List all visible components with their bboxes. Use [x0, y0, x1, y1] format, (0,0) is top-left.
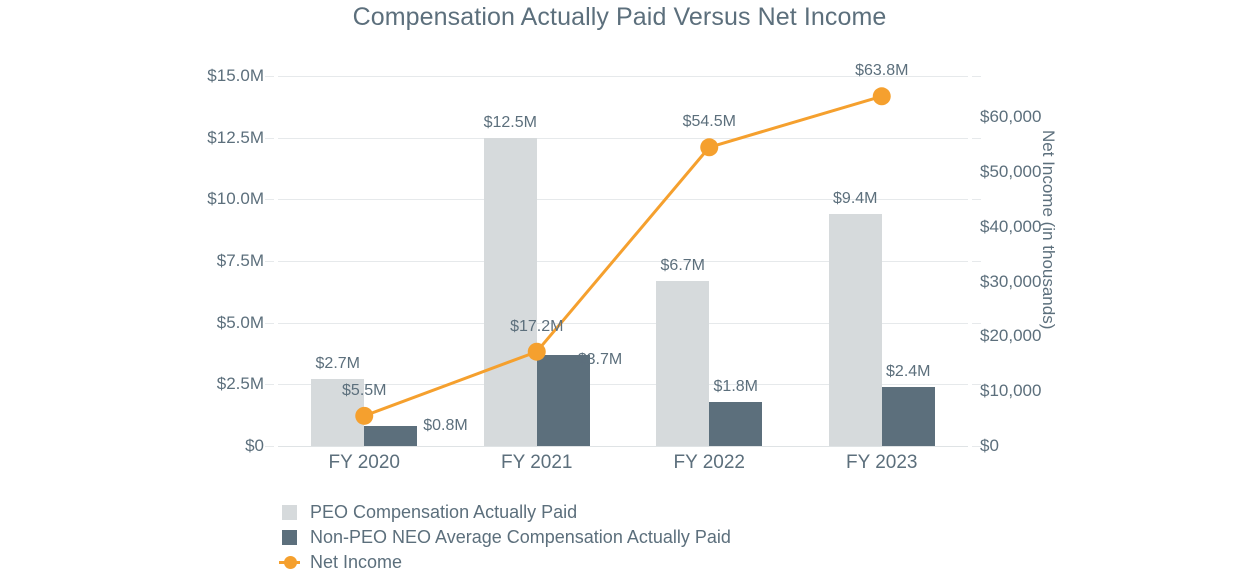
legend-swatch-net-income-icon	[282, 555, 297, 570]
legend-label-non-peo: Non-PEO NEO Average Compensation Actuall…	[310, 527, 731, 548]
axis-tick-left	[265, 199, 274, 200]
bar-value-label-peo: $12.5M	[460, 114, 560, 132]
legend-label-net-income: Net Income	[310, 552, 402, 573]
y-axis-left-tick-label: $7.5M	[144, 251, 264, 271]
y-axis-left-tick-label: $12.5M	[144, 128, 264, 148]
x-axis-label-fy-2020: FY 2020	[284, 452, 444, 474]
bar-peo-fy-2022[interactable]	[656, 281, 709, 446]
bar-non-peo-fy-2023[interactable]	[882, 387, 935, 446]
axis-tick-left	[265, 76, 274, 77]
gridline	[278, 138, 968, 139]
axis-tick-right	[972, 384, 981, 385]
axis-tick-left	[265, 138, 274, 139]
legend-item-peo[interactable]: PEO Compensation Actually Paid	[282, 500, 731, 525]
axis-tick-right	[972, 76, 981, 77]
net-income-point-fy-2023[interactable]	[873, 87, 891, 105]
x-axis-label-fy-2022: FY 2022	[629, 452, 789, 474]
y-axis-right-tick-label: $60,000	[980, 107, 1041, 127]
net-income-value-label: $63.8M	[822, 62, 942, 80]
bar-value-label-peo: $6.7M	[633, 257, 733, 275]
axis-tick-right	[972, 199, 981, 200]
legend-item-net-income[interactable]: Net Income	[282, 550, 731, 575]
legend-label-peo: PEO Compensation Actually Paid	[310, 502, 577, 523]
axis-tick-right	[972, 138, 981, 139]
legend-item-non-peo[interactable]: Non-PEO NEO Average Compensation Actuall…	[282, 525, 731, 550]
axis-tick-left	[265, 323, 274, 324]
y-axis-right-title: Net Income (in thousands)	[1038, 130, 1058, 329]
chart-title: Compensation Actually Paid Versus Net In…	[0, 3, 1239, 32]
y-axis-left-tick-label: $10.0M	[144, 189, 264, 209]
y-axis-left-tick-label: $5.0M	[144, 313, 264, 333]
gridline	[278, 446, 968, 447]
axis-tick-left	[265, 446, 274, 447]
axis-tick-right	[972, 446, 981, 447]
axis-tick-right	[972, 261, 981, 262]
y-axis-right-tick-label: $50,000	[980, 162, 1041, 182]
legend-swatch-non-peo-icon	[282, 530, 297, 545]
bar-peo-fy-2021[interactable]	[484, 138, 537, 446]
net-income-point-fy-2022[interactable]	[700, 138, 718, 156]
net-income-value-label: $54.5M	[649, 113, 769, 131]
y-axis-left-tick-label: $15.0M	[144, 66, 264, 86]
bar-non-peo-fy-2020[interactable]	[364, 426, 417, 446]
x-axis-label-fy-2023: FY 2023	[802, 452, 962, 474]
y-axis-right-tick-label: $20,000	[980, 326, 1041, 346]
bar-value-label-non-peo: $1.8M	[686, 378, 786, 396]
x-axis-label-fy-2021: FY 2021	[457, 452, 617, 474]
axis-tick-left	[265, 261, 274, 262]
y-axis-left-tick-label: $0	[144, 436, 264, 456]
chart-container: Compensation Actually Paid Versus Net In…	[0, 0, 1239, 579]
legend-swatch-peo-icon	[282, 505, 297, 520]
plot-area: $2.7M$0.8M$12.5M$3.7M$6.7M$1.8M$9.4M$2.4…	[278, 76, 968, 446]
axis-tick-left	[265, 384, 274, 385]
bar-value-label-peo: $2.7M	[288, 355, 388, 373]
bar-value-label-non-peo: $2.4M	[858, 363, 958, 381]
y-axis-right-tick-label: $0	[980, 436, 999, 456]
bar-value-label-peo: $9.4M	[805, 190, 905, 208]
bar-peo-fy-2023[interactable]	[829, 214, 882, 446]
net-income-value-label: $17.2M	[477, 318, 597, 336]
net-income-value-label: $5.5M	[304, 382, 424, 400]
y-axis-left-tick-label: $2.5M	[144, 374, 264, 394]
chart-legend: PEO Compensation Actually Paid Non-PEO N…	[282, 500, 731, 575]
y-axis-right-tick-label: $10,000	[980, 381, 1041, 401]
y-axis-right-tick-label: $40,000	[980, 217, 1041, 237]
y-axis-right-tick-label: $30,000	[980, 272, 1041, 292]
axis-tick-right	[972, 323, 981, 324]
bar-non-peo-fy-2022[interactable]	[709, 402, 762, 446]
